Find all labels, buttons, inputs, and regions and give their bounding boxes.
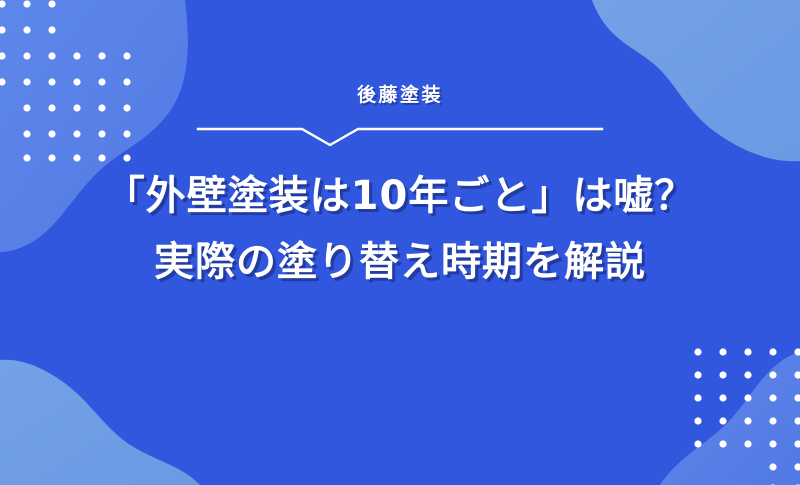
promo-banner: 後藤塗装 「外壁塗装は10年ごと」は嘘？ 実際の塗り替え時期を解説 [0, 0, 800, 485]
banner-content: 後藤塗装 「外壁塗装は10年ごと」は嘘？ 実際の塗り替え時期を解説 [0, 0, 800, 485]
headline-line-1: 「外壁塗装は10年ごと」は嘘？ [105, 165, 696, 227]
headline-line-2: 実際の塗り替え時期を解説 [105, 231, 696, 293]
company-name-eyebrow: 後藤塗装 [357, 84, 443, 107]
notched-divider-icon [190, 121, 610, 147]
page-title: 「外壁塗装は10年ごと」は嘘？ 実際の塗り替え時期を解説 [105, 165, 696, 293]
notched-divider [190, 121, 610, 147]
